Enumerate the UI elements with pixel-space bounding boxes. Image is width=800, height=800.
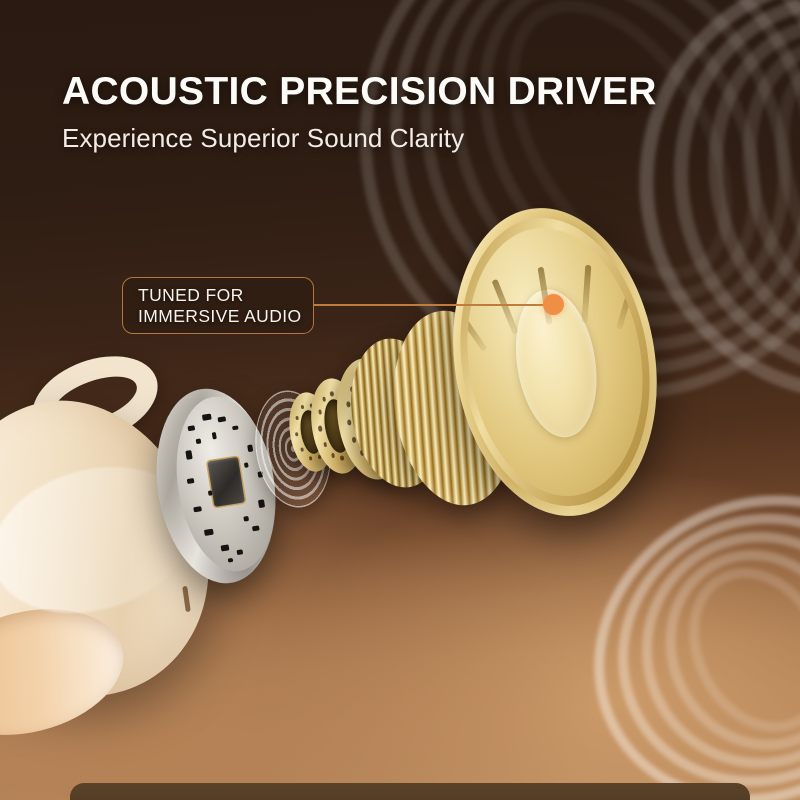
ring-perforation bbox=[322, 397, 326, 403]
page-subtitle: Experience Superior Sound Clarity bbox=[62, 124, 657, 153]
callout-label-line2: IMMERSIVE AUDIO bbox=[138, 306, 313, 327]
smd-component bbox=[201, 413, 211, 420]
ring-perforation bbox=[318, 409, 322, 415]
smd-component bbox=[212, 432, 217, 440]
smd-component bbox=[208, 490, 213, 496]
product-hero-banner: ACOUSTIC PRECISION DRIVER Experience Sup… bbox=[0, 0, 800, 800]
dome-rib bbox=[491, 279, 518, 335]
ring-perforation bbox=[301, 405, 304, 410]
driver-chip-icon bbox=[207, 457, 245, 507]
smd-component bbox=[236, 549, 243, 555]
ring-perforation bbox=[340, 455, 344, 461]
headline-block: ACOUSTIC PRECISION DRIVER Experience Sup… bbox=[62, 72, 657, 153]
ring-perforation bbox=[318, 426, 322, 432]
smd-component bbox=[252, 525, 260, 531]
callout-box[interactable]: TUNED FOR IMMERSIVE AUDIO bbox=[122, 277, 314, 334]
smd-component bbox=[217, 416, 226, 422]
ring-perforation bbox=[346, 401, 351, 408]
smd-component bbox=[247, 444, 253, 452]
smd-component bbox=[193, 506, 202, 512]
smd-component bbox=[243, 516, 249, 522]
ring-perforation bbox=[309, 456, 312, 461]
smd-component bbox=[258, 499, 265, 508]
ring-perforation bbox=[300, 447, 303, 452]
ring-perforation bbox=[295, 432, 298, 437]
smd-component bbox=[232, 425, 239, 430]
ring-perforation bbox=[346, 419, 351, 426]
dome-rib bbox=[581, 265, 591, 323]
ring-perforation bbox=[330, 391, 334, 397]
smd-component bbox=[196, 438, 202, 444]
callout-connector-line bbox=[313, 304, 545, 306]
ring-perforation bbox=[323, 442, 327, 448]
smd-component bbox=[204, 529, 214, 536]
smd-component bbox=[228, 558, 234, 563]
smd-component bbox=[188, 425, 196, 431]
page-title: ACOUSTIC PRECISION DRIVER bbox=[62, 72, 657, 113]
ring-perforation bbox=[331, 452, 335, 458]
smd-component bbox=[220, 544, 229, 551]
callout-label-line1: TUNED FOR bbox=[138, 285, 313, 306]
smd-component bbox=[186, 478, 194, 484]
smd-component bbox=[186, 450, 193, 460]
callout-marker-dot bbox=[543, 294, 564, 315]
smd-component bbox=[244, 463, 249, 469]
ring-perforation bbox=[295, 416, 298, 421]
ring-perforation bbox=[351, 437, 356, 444]
display-plinth bbox=[70, 783, 750, 800]
